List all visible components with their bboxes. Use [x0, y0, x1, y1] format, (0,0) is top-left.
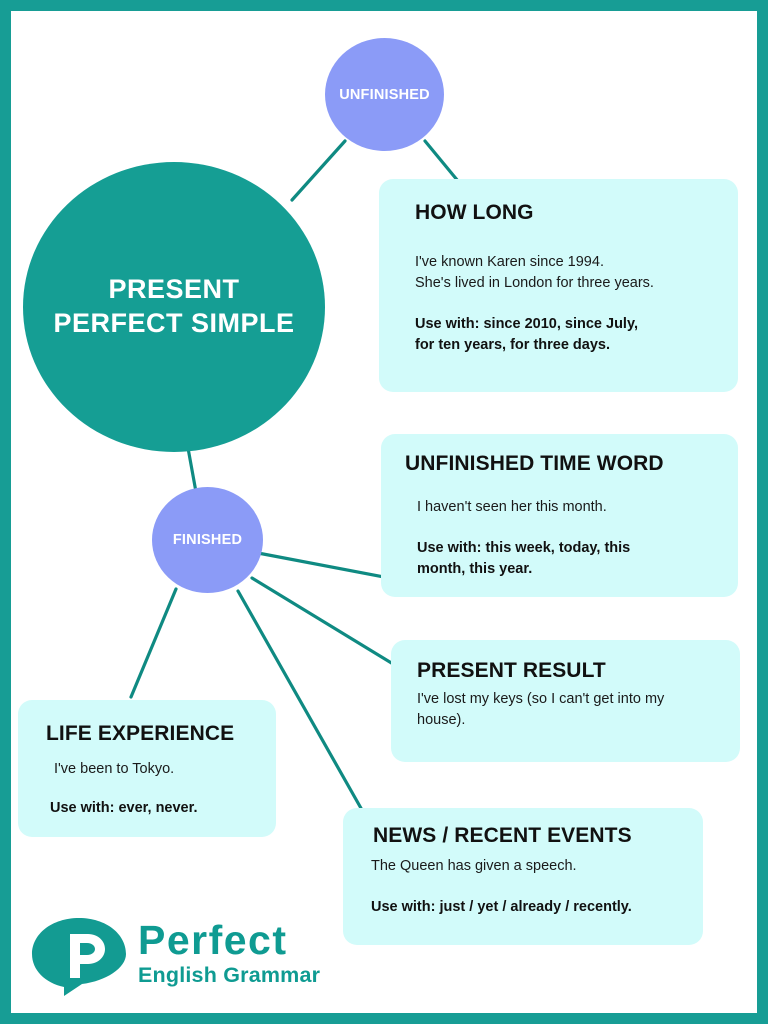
card-present-result-example-line2: house).: [417, 710, 716, 731]
connector-finished-to-unfinished-time: [258, 553, 384, 577]
card-news-recent-events-example-line1: The Queen has given a speech.: [371, 856, 687, 877]
card-unfinished-time-word-example-line1: I haven't seen her this month.: [417, 497, 716, 518]
node-present-perfect-simple[interactable]: PRESENT PERFECT SIMPLE: [23, 162, 325, 452]
connector-finished-to-life-experience: [131, 589, 176, 697]
card-unfinished-time-word[interactable]: UNFINISHED TIME WORD I haven't seen her …: [381, 434, 738, 597]
card-unfinished-time-word-title: UNFINISHED TIME WORD: [405, 452, 716, 475]
node-finished[interactable]: FINISHED: [152, 487, 263, 593]
brand-word-perfect: Perfect: [138, 920, 320, 961]
card-news-recent-events[interactable]: NEWS / RECENT EVENTS The Queen has given…: [343, 808, 703, 945]
card-life-experience-usewith: Use with: ever, never.: [50, 798, 260, 819]
brand-word-english-grammar: English Grammar: [138, 965, 320, 987]
card-unfinished-time-word-usewith: Use with: this week, today, this month, …: [417, 538, 716, 580]
card-news-recent-events-usewith: Use with: just / yet / already / recentl…: [371, 897, 687, 918]
card-unfinished-time-word-example: I haven't seen her this month.: [417, 497, 716, 518]
card-how-long[interactable]: HOW LONG I've known Karen since 1994. Sh…: [379, 179, 738, 392]
card-present-result-title: PRESENT RESULT: [417, 659, 716, 682]
node-unfinished[interactable]: UNFINISHED: [325, 38, 444, 151]
card-news-recent-events-usewith-line1: Use with: just / yet / already / recentl…: [371, 897, 687, 918]
connector-main-to-unfinished: [292, 141, 345, 200]
card-how-long-title: HOW LONG: [415, 201, 712, 224]
card-unfinished-time-word-usewith-line2: month, this year.: [417, 559, 716, 580]
card-unfinished-time-word-usewith-line1: Use with: this week, today, this: [417, 538, 716, 559]
node-finished-label: FINISHED: [173, 532, 242, 548]
card-life-experience[interactable]: LIFE EXPERIENCE I've been to Tokyo. Use …: [18, 700, 276, 837]
brand-logo-text: Perfect English Grammar: [138, 920, 320, 987]
card-life-experience-title: LIFE EXPERIENCE: [46, 722, 260, 745]
node-unfinished-label: UNFINISHED: [339, 87, 430, 103]
card-how-long-example: I've known Karen since 1994. She's lived…: [415, 252, 712, 294]
card-news-recent-events-title: NEWS / RECENT EVENTS: [373, 824, 687, 847]
card-life-experience-usewith-line1: Use with: ever, never.: [50, 798, 260, 819]
card-how-long-example-line2: She's lived in London for three years.: [415, 273, 712, 294]
card-how-long-usewith: Use with: since 2010, since July, for te…: [415, 314, 712, 356]
brand-logo[interactable]: Perfect English Grammar: [30, 916, 330, 1002]
card-how-long-usewith-line2: for ten years, for three days.: [415, 335, 712, 356]
card-present-result-example: I've lost my keys (so I can't get into m…: [417, 689, 716, 731]
node-label-group: PRESENT PERFECT SIMPLE: [35, 273, 312, 341]
node-label-line1: PRESENT: [53, 273, 294, 307]
speech-bubble-p-icon: [30, 916, 128, 998]
card-life-experience-example-line1: I've been to Tokyo.: [54, 759, 260, 780]
card-how-long-example-line1: I've known Karen since 1994.: [415, 252, 712, 273]
card-how-long-usewith-line1: Use with: since 2010, since July,: [415, 314, 712, 335]
node-label-line2: PERFECT SIMPLE: [53, 307, 294, 341]
infographic-poster: PRESENT PERFECT SIMPLE UNFINISHED FINISH…: [0, 0, 768, 1024]
card-present-result[interactable]: PRESENT RESULT I've lost my keys (so I c…: [391, 640, 740, 762]
card-present-result-example-line1: I've lost my keys (so I can't get into m…: [417, 689, 716, 710]
card-life-experience-example: I've been to Tokyo.: [54, 759, 260, 780]
card-news-recent-events-example: The Queen has given a speech.: [371, 856, 687, 877]
